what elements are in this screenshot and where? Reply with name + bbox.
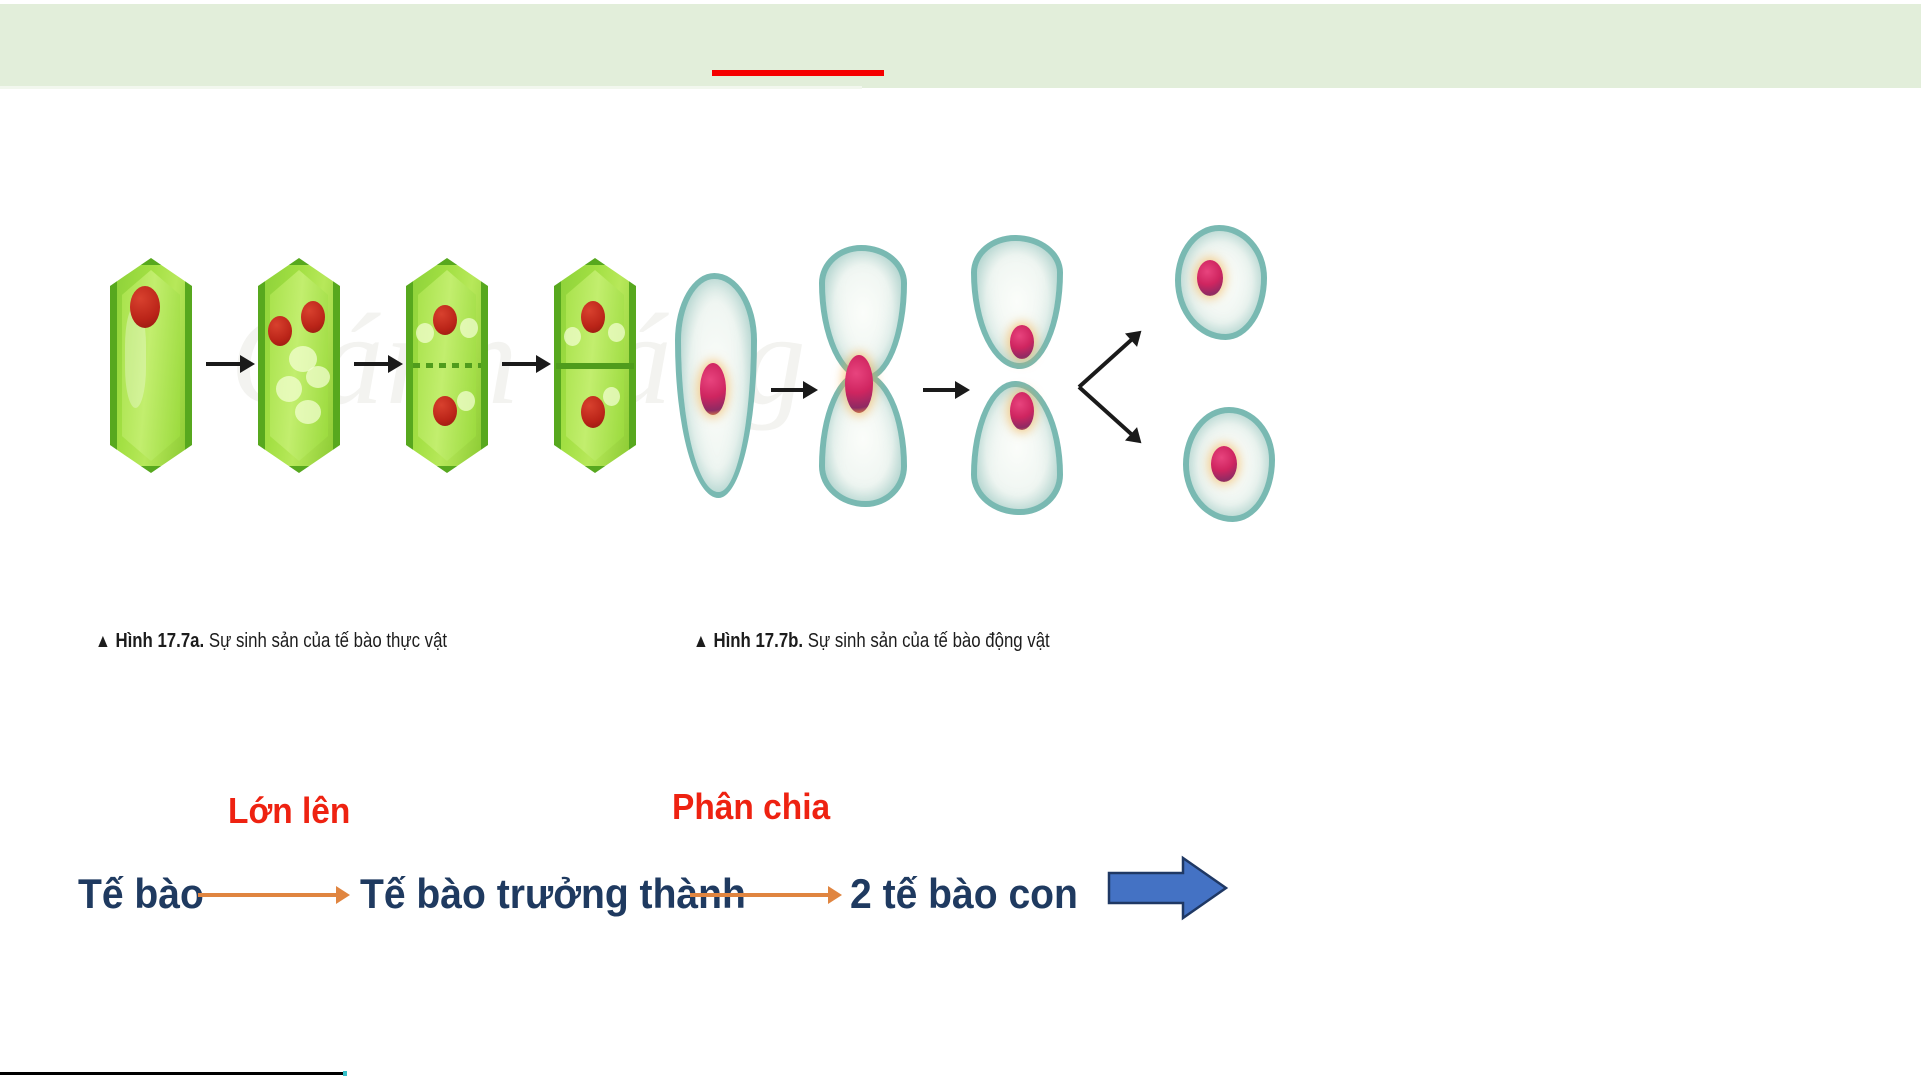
caption-triangle-icon: ▲: [693, 631, 709, 652]
plant-cell-stage-1: [110, 258, 192, 473]
flow-node-cell: Tế bào: [78, 870, 204, 918]
flow-label-grow: Lớn lên: [228, 790, 350, 832]
nucleus-upper: [1010, 325, 1034, 359]
branch-arrow-up: [1078, 337, 1134, 388]
vacuole: [608, 323, 625, 342]
nucleus-lower: [1010, 392, 1034, 430]
plant-cell-stage-2: [258, 258, 340, 473]
caption-figure-b: ▲ Hình 17.7b. Sự sinh sản của tế bào độn…: [693, 630, 1050, 653]
flow-label-divide: Phân chia: [672, 786, 830, 828]
vacuole: [306, 366, 330, 388]
banner-seam: [0, 86, 862, 89]
plant-cell-stage-3: [406, 258, 488, 473]
nucleus: [581, 301, 605, 333]
nucleus: [1197, 260, 1223, 296]
process-arrow-1: [771, 388, 805, 392]
figure-stage: Cánh sáng: [0, 95, 1921, 695]
plant-cell-sequence: [110, 250, 630, 490]
animal-cell-stage-2: [819, 245, 907, 507]
nucleus: [1211, 446, 1237, 482]
process-arrow-3: [502, 362, 538, 366]
caption-text: Sự sinh sản của tế bào động vật: [808, 630, 1050, 652]
vacuole: [295, 400, 321, 424]
nucleus: [433, 396, 457, 426]
top-banner: [0, 4, 1921, 88]
caption-figure-number: Hình 17.7b.: [713, 630, 803, 652]
flow-arrow-1: [198, 893, 338, 897]
branch-arrow-down: [1078, 386, 1134, 437]
animal-cell-stage-1: [675, 273, 757, 498]
nucleus: [268, 316, 292, 346]
cell-plate-complete: [556, 363, 635, 369]
vacuole: [564, 327, 581, 346]
title-underline: [712, 70, 884, 76]
nucleus: [301, 301, 325, 333]
footer-rule-tick: [343, 1071, 347, 1076]
caption-figure-a: ▲ Hình 17.7a. Sự sinh sản của tế bào thự…: [95, 630, 447, 653]
animal-cell-stage-3: [971, 235, 1063, 515]
caption-figure-number: Hình 17.7a.: [115, 630, 204, 652]
right-arrow-icon: [1107, 855, 1229, 921]
flow-node-two-daughter-cells: 2 tế bào con: [850, 870, 1078, 918]
process-arrow-2: [354, 362, 390, 366]
plant-cell-stage-4: [554, 258, 636, 473]
caption-text: Sự sinh sản của tế bào thực vật: [209, 630, 447, 652]
vacuole: [457, 391, 475, 411]
process-arrow-2: [923, 388, 957, 392]
cell-cycle-flow-diagram: Lớn lên Phân chia Tế bào Tế bào trưởng t…: [0, 760, 1921, 990]
flow-arrow-2: [690, 893, 830, 897]
animal-cell-sequence: [675, 225, 1285, 515]
blue-block-arrow[interactable]: [1107, 855, 1229, 921]
cell-plate-forming: [413, 363, 482, 368]
process-arrow-1: [206, 362, 242, 366]
nucleus: [700, 363, 726, 415]
animal-daughter-cell-2: [1183, 407, 1275, 522]
nucleus: [581, 396, 605, 428]
footer-rule: [0, 1072, 345, 1075]
animal-daughter-cell-1: [1175, 225, 1267, 340]
nucleus: [130, 286, 160, 328]
caption-triangle-icon: ▲: [95, 631, 111, 652]
vacuole: [416, 323, 434, 343]
flow-node-mature-cell: Tế bào trưởng thành: [360, 870, 746, 918]
